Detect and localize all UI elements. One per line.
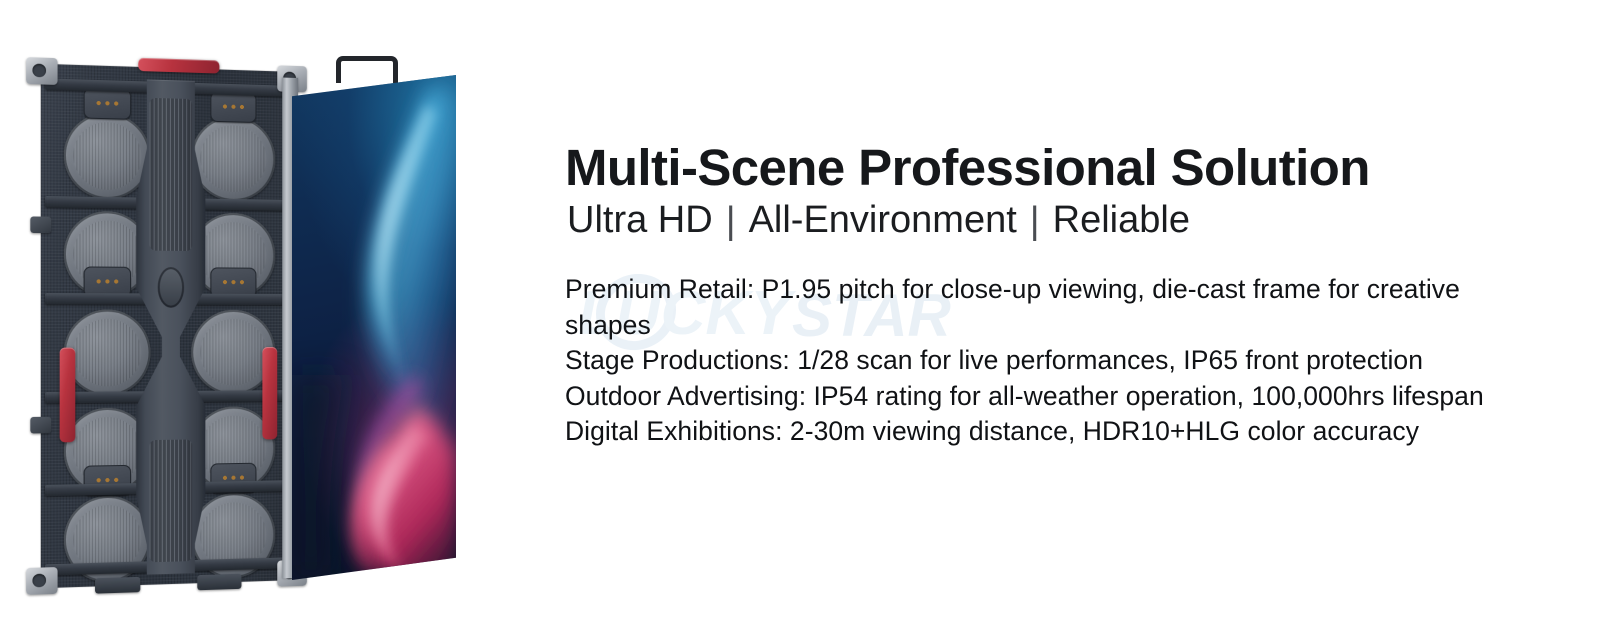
corner-lock — [26, 57, 57, 85]
module-hub — [84, 88, 131, 120]
panel-top-handle — [336, 56, 398, 83]
led-panel-front-view — [292, 75, 456, 580]
cabinet-side-handle-right — [262, 347, 277, 439]
subtitle-part-all-environment: All-Environment — [749, 199, 1017, 241]
feature-list: Premium Retail: P1.95 pitch for close-up… — [565, 272, 1515, 450]
cabinet-rear-body — [41, 64, 297, 588]
spine-eyelet — [158, 267, 184, 308]
cabinet-side-handle-left — [60, 348, 76, 443]
side-latch — [30, 417, 51, 434]
fan-disc — [64, 310, 151, 396]
spine-rib — [150, 98, 193, 251]
subtitle-separator: | — [726, 201, 736, 242]
page-title: Multi-Scene Professional Solution — [565, 141, 1370, 195]
side-latch — [30, 216, 51, 233]
spine-rib — [150, 439, 193, 562]
feature-line-outdoor-advertising: Outdoor Advertising: IP54 rating for all… — [565, 379, 1515, 415]
fan-disc — [191, 115, 275, 201]
led-cabinet-rear-view — [41, 64, 297, 588]
corner-lock — [26, 567, 57, 595]
feature-line-digital-exhibitions: Digital Exhibitions: 2-30m viewing dista… — [565, 414, 1515, 450]
text-content: LUCKY STAR Multi-Scene Professional Solu… — [565, 0, 1565, 640]
product-banner: LUCKY STAR Multi-Scene Professional Solu… — [0, 0, 1600, 640]
screen-smoke-artwork — [292, 75, 456, 580]
bottom-latch — [197, 574, 241, 591]
subtitle-part-ultra-hd: Ultra HD — [567, 199, 713, 241]
led-screen-surface — [292, 75, 456, 580]
subtitle-separator: | — [1030, 201, 1040, 242]
fan-disc — [64, 112, 151, 200]
page-subtitle: Ultra HD|All-Environment|Reliable — [567, 200, 1190, 241]
product-image — [0, 0, 520, 640]
cabinet-top-handle — [138, 58, 219, 74]
bottom-latch — [95, 577, 140, 594]
feature-line-premium-retail: Premium Retail: P1.95 pitch for close-up… — [565, 272, 1515, 343]
subtitle-part-reliable: Reliable — [1053, 199, 1190, 241]
module-hub — [210, 91, 256, 122]
feature-line-stage-productions: Stage Productions: 1/28 scan for live pe… — [565, 343, 1515, 379]
